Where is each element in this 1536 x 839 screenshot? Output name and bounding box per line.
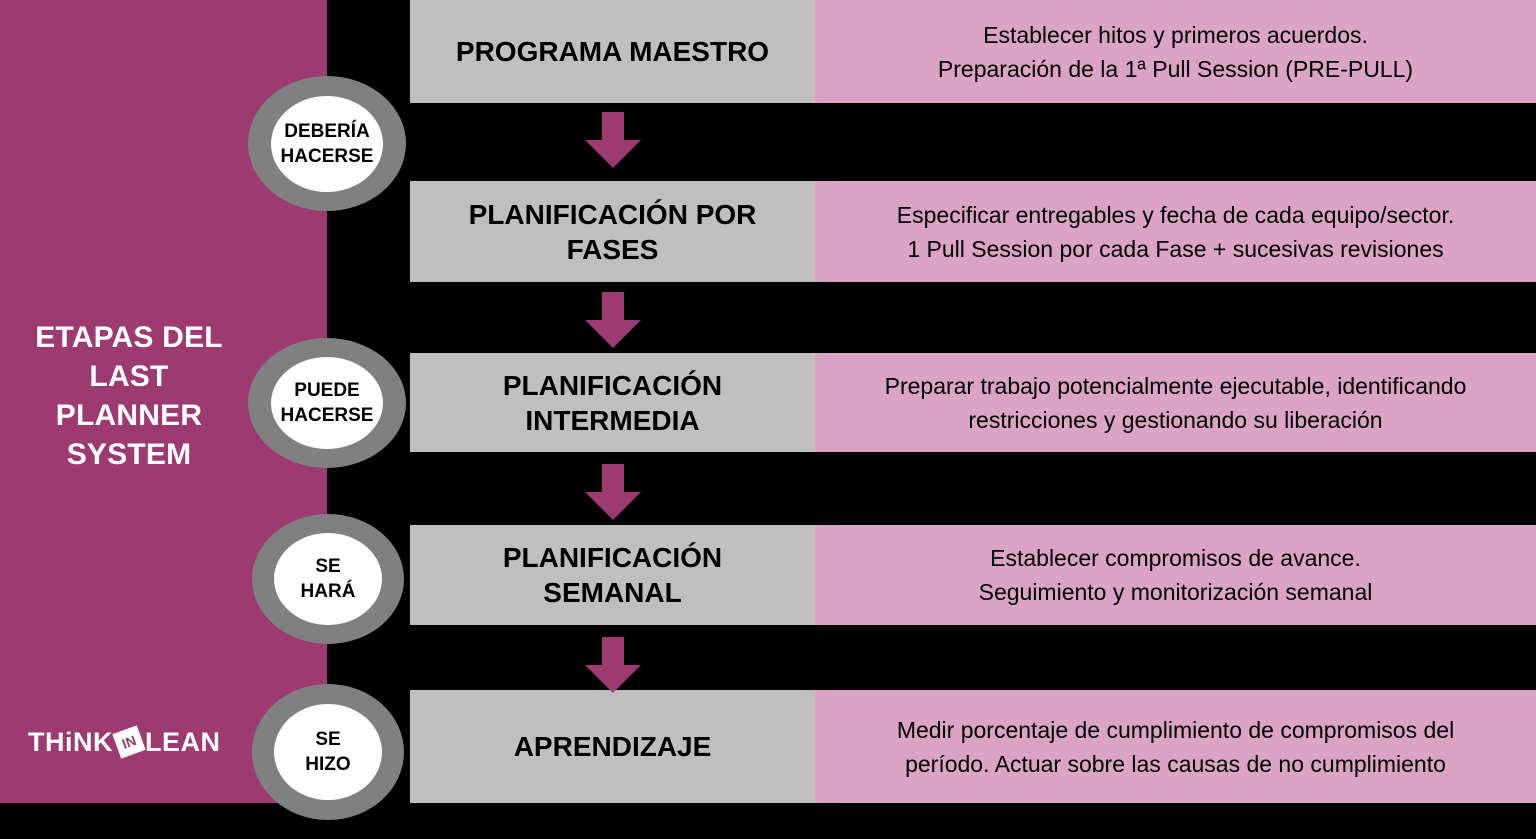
description-line: Especificar entregables y fecha de cada … — [881, 198, 1470, 232]
description-line: Preparación de la 1ª Pull Session (PRE-P… — [922, 52, 1429, 86]
stage-label-4: PLANIFICACIÓN SEMANAL — [489, 540, 736, 610]
phase-circle-se-hara[interactable]: SE HARÁ — [252, 514, 404, 644]
phase-circle-label: DEBERÍA HACERSE — [281, 119, 374, 169]
stage-box-4[interactable]: PLANIFICACIÓN SEMANAL — [410, 525, 815, 625]
description-box-2[interactable]: Especificar entregables y fecha de cada … — [815, 181, 1536, 282]
description-box-4[interactable]: Establecer compromisos de avance. Seguim… — [815, 525, 1536, 625]
arrow-shaft — [602, 637, 624, 667]
description-line: Seguimiento y monitorización semanal — [963, 575, 1389, 609]
description-line: restricciones y gestionando su liberació… — [952, 403, 1398, 437]
brand-text-think: THiNK — [28, 729, 113, 756]
phase-circle-inner: SE HARÁ — [274, 533, 382, 625]
phase-circle-deberia-hacerse[interactable]: DEBERÍA HACERSE — [248, 76, 406, 211]
down-arrow-icon-4 — [585, 637, 641, 693]
stage-label-5: APRENDIZAJE — [500, 729, 726, 764]
down-arrow-icon-1 — [585, 112, 641, 168]
diagram-canvas: PROGRAMA MAESTRO Establecer hitos y prim… — [0, 0, 1536, 839]
phase-circle-puede-hacerse[interactable]: PUEDE HACERSE — [248, 338, 406, 468]
brand-logo[interactable]: THiNK IN LEAN — [28, 722, 228, 762]
down-arrow-icon-2 — [585, 292, 641, 348]
phase-circle-se-hizo[interactable]: SE HIZO — [252, 684, 404, 820]
brand-text-lean: LEAN — [145, 729, 221, 756]
stage-box-3[interactable]: PLANIFICACIÓN INTERMEDIA — [410, 353, 815, 452]
brand-diamond-icon: IN — [114, 727, 144, 757]
brand-text-in: IN — [110, 723, 148, 761]
arrow-head — [585, 492, 641, 520]
stage-label-1: PROGRAMA MAESTRO — [442, 34, 783, 69]
phase-circle-inner: DEBERÍA HACERSE — [271, 96, 383, 192]
page-title: ETAPAS DEL LAST PLANNER SYSTEM — [0, 318, 258, 474]
arrow-head — [585, 665, 641, 693]
phase-circle-inner: PUEDE HACERSE — [271, 357, 383, 449]
stage-box-2[interactable]: PLANIFICACIÓN POR FASES — [410, 181, 815, 282]
stage-label-3: PLANIFICACIÓN INTERMEDIA — [489, 368, 736, 438]
description-box-3[interactable]: Preparar trabajo potencialmente ejecutab… — [815, 353, 1536, 452]
arrow-shaft — [602, 464, 624, 494]
description-line: Establecer compromisos de avance. — [974, 541, 1377, 575]
arrow-head — [585, 320, 641, 348]
description-line: Preparar trabajo potencialmente ejecutab… — [869, 369, 1483, 403]
description-line: Medir porcentaje de cumplimiento de comp… — [881, 713, 1470, 747]
arrow-shaft — [602, 292, 624, 322]
arrow-shaft — [602, 112, 624, 142]
description-line: período. Actuar sobre las causas de no c… — [889, 747, 1462, 781]
down-arrow-icon-3 — [585, 464, 641, 520]
arrow-head — [585, 140, 641, 168]
stage-label-2: PLANIFICACIÓN POR FASES — [455, 197, 771, 267]
description-line: Establecer hitos y primeros acuerdos. — [967, 18, 1384, 52]
phase-circle-inner: SE HIZO — [274, 704, 382, 800]
phase-circle-label: SE HARÁ — [301, 554, 356, 604]
phase-circle-label: SE HIZO — [305, 727, 350, 777]
stage-box-1[interactable]: PROGRAMA MAESTRO — [410, 0, 815, 103]
phase-circle-label: PUEDE HACERSE — [281, 378, 374, 428]
description-box-5[interactable]: Medir porcentaje de cumplimiento de comp… — [815, 690, 1536, 803]
description-line: 1 Pull Session por cada Fase + sucesivas… — [891, 232, 1459, 266]
description-box-1[interactable]: Establecer hitos y primeros acuerdos. Pr… — [815, 0, 1536, 103]
stage-box-5[interactable]: APRENDIZAJE — [410, 690, 815, 803]
